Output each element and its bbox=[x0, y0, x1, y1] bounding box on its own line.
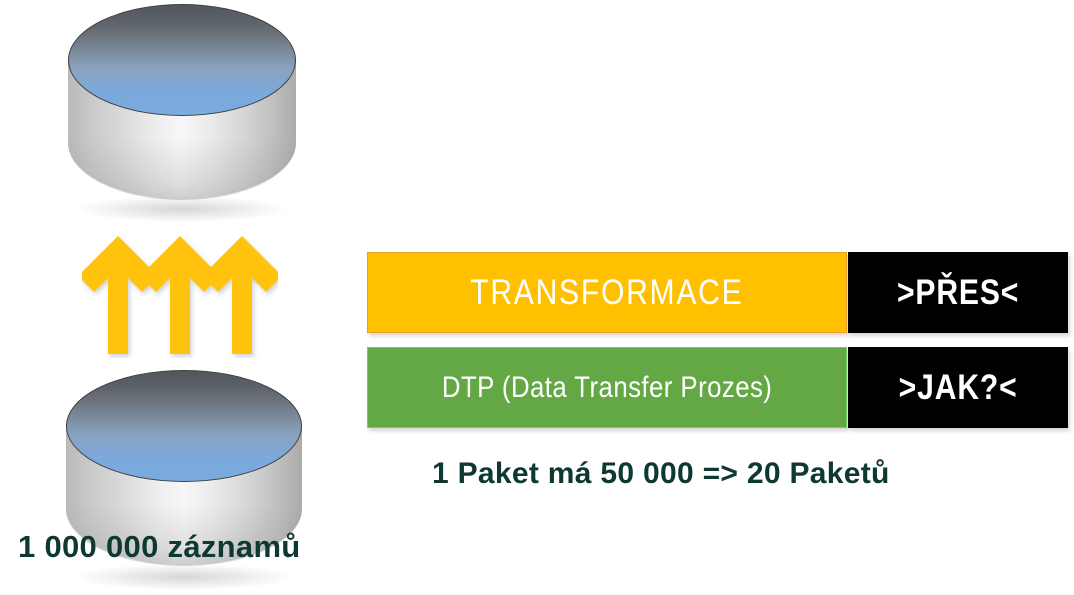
bar-row-dtp: DTP (Data Transfer Prozes) >JAK?< bbox=[367, 347, 1068, 428]
dtp-bar[interactable]: DTP (Data Transfer Prozes) bbox=[367, 347, 847, 428]
bar-row-transformace: TRANSFORMACE >PŘES< bbox=[367, 252, 1068, 333]
triple-up-arrow-icon bbox=[82, 232, 278, 358]
packets-caption: 1 Paket má 50 000 => 20 Paketů bbox=[432, 457, 890, 491]
jak-label: >JAK?< bbox=[899, 368, 1018, 408]
records-caption: 1 000 000 záznamů bbox=[18, 529, 301, 565]
dtp-label: DTP (Data Transfer Prozes) bbox=[442, 371, 772, 405]
source-database-cylinder bbox=[68, 4, 296, 216]
cylinder-top-ellipse bbox=[68, 4, 296, 116]
jak-bar[interactable]: >JAK?< bbox=[848, 347, 1068, 428]
transformace-label: TRANSFORMACE bbox=[470, 273, 743, 313]
transformace-bar[interactable]: TRANSFORMACE bbox=[367, 252, 847, 333]
slide-canvas: TRANSFORMACE >PŘES< DTP (Data Transfer P… bbox=[0, 0, 1074, 595]
cylinder-drop-shadow bbox=[75, 564, 292, 590]
cylinder-drop-shadow bbox=[77, 196, 287, 222]
pres-bar[interactable]: >PŘES< bbox=[848, 252, 1068, 333]
upward-flow-arrows bbox=[82, 232, 278, 358]
pres-label: >PŘES< bbox=[897, 273, 1019, 313]
cylinder-body-shading bbox=[68, 138, 296, 200]
cylinder-top-ellipse bbox=[66, 370, 302, 482]
